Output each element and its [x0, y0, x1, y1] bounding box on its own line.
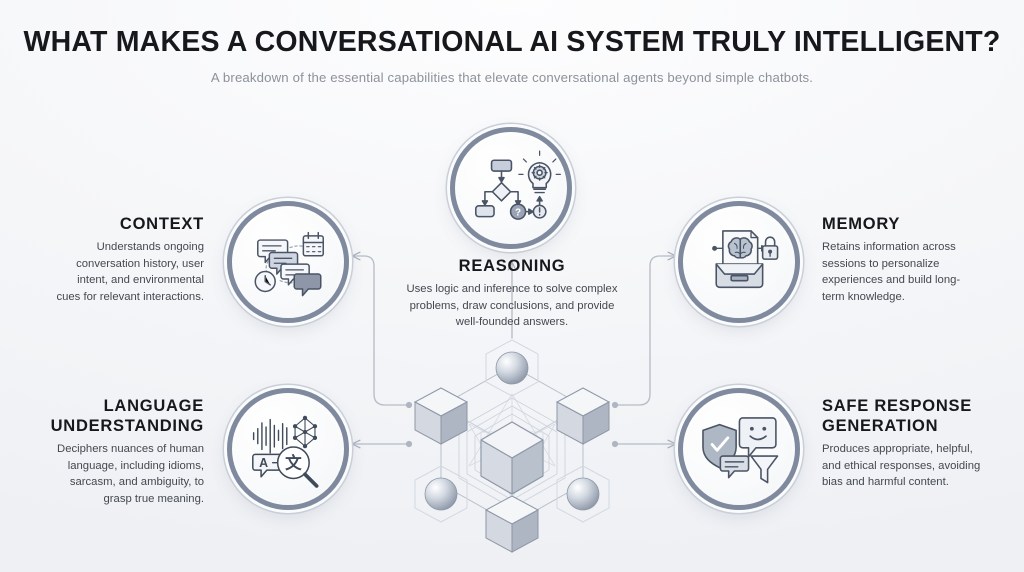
svg-text:文: 文: [285, 452, 302, 472]
node-circle-reasoning[interactable]: ?: [450, 127, 572, 249]
network-cube-hub-icon: [405, 338, 619, 552]
node-text-safe-response-generation: SAFE RESPONSE GENERATION Produces approp…: [822, 396, 984, 491]
node-circle-language-understanding[interactable]: A 文: [227, 388, 349, 510]
brain-document-tray-lock-icon: [698, 221, 781, 304]
node-body-language-understanding: Deciphers nuances of human language, inc…: [44, 441, 204, 507]
node-circle-context[interactable]: [227, 201, 349, 323]
node-body-safe-response-generation: Produces appropriate, helpful, and ethic…: [822, 441, 984, 491]
node-heading-context: CONTEXT: [56, 214, 204, 234]
node-heading-memory: MEMORY: [822, 214, 972, 234]
node-body-reasoning: Uses logic and inference to solve comple…: [398, 281, 626, 331]
node-body-memory: Retains information across sessions to p…: [822, 239, 972, 305]
node-text-reasoning: REASONING Uses logic and inference to so…: [398, 256, 626, 331]
central-hub: [405, 338, 619, 552]
node-circle-memory[interactable]: [678, 201, 800, 323]
hub-core-cube: [481, 422, 543, 494]
node-heading-reasoning: REASONING: [398, 256, 626, 276]
page-subtitle: A breakdown of the essential capabilitie…: [0, 70, 1024, 85]
waveform-neural-translate-magnifier-icon: A 文: [247, 408, 330, 491]
node-circle-safe-response-generation[interactable]: [678, 388, 800, 510]
node-text-memory: MEMORY Retains information across sessio…: [822, 214, 972, 306]
shield-check-smiley-funnel-icon: [698, 408, 781, 491]
node-body-context: Understands ongoing conversation history…: [56, 239, 204, 305]
node-text-context: CONTEXT Understands ongoing conversation…: [56, 214, 204, 306]
node-text-language-understanding: LANGUAGE UNDERSTANDING Deciphers nuances…: [44, 396, 204, 508]
infographic-canvas: WHAT MAKES A CONVERSATIONAL AI SYSTEM TR…: [0, 0, 1024, 572]
chat-bubbles-calendar-clock-icon: [247, 221, 330, 304]
page-title: WHAT MAKES A CONVERSATIONAL AI SYSTEM TR…: [0, 26, 1024, 59]
svg-text:?: ?: [515, 207, 521, 218]
node-heading-language-understanding: LANGUAGE UNDERSTANDING: [44, 396, 204, 436]
hub-node-cube: [486, 496, 538, 552]
svg-text:A: A: [259, 455, 268, 469]
flowchart-lightbulb-gear-icon: ?: [470, 147, 553, 230]
node-heading-safe-response-generation: SAFE RESPONSE GENERATION: [822, 396, 984, 436]
